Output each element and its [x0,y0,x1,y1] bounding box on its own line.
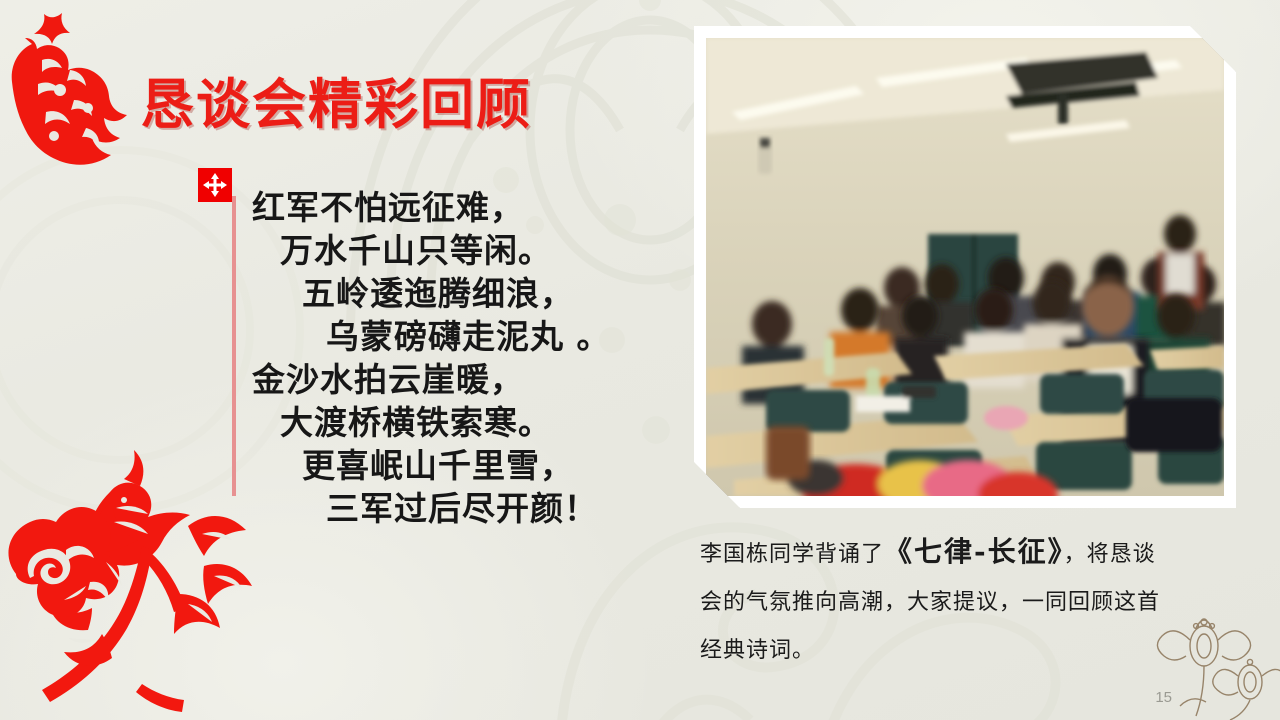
papercut-flower-icon [2,8,132,183]
poem-line: 金沙水拍云崖暖， [252,358,672,401]
page-title: 恳谈会精彩回顾 [140,78,532,132]
event-photo [706,38,1224,496]
poem-line: 三军过后尽开颜！ [252,487,672,530]
accent-vertical-rule [232,196,236,496]
slide-canvas: 恳谈会精彩回顾 红军不怕远征难， 万水千山只等闲。 五岭逶迤腾细浪， 乌蒙磅礴走… [0,0,1280,720]
photo-caption: 李国栋同学背诵了《七律-长征》，将恳谈会的气氛推向高潮，大家提议，一同回顾这首经… [700,528,1170,675]
move-arrows-icon[interactable] [198,168,232,202]
poem-block: 红军不怕远征难， 万水千山只等闲。 五岭逶迤腾细浪， 乌蒙磅礴走泥丸 。 金沙水… [252,186,672,530]
poem-line: 更喜岷山千里雪， [252,444,672,487]
poem-line: 万水千山只等闲。 [252,229,672,272]
page-number: 15 [1155,689,1172,706]
poem-line: 乌蒙磅礴走泥丸 。 [252,315,672,358]
papercut-rose-bird-icon [0,434,292,720]
poem-line: 大渡桥横铁索寒。 [252,401,672,444]
caption-part1: 李国栋同学背诵了 [700,542,884,567]
photo-frame [694,26,1236,508]
poem-line: 五岭逶迤腾细浪， [252,272,672,315]
caption-emphasis: 《七律-长征》 [884,535,1064,568]
poem-line: 红军不怕远征难， [252,186,672,229]
